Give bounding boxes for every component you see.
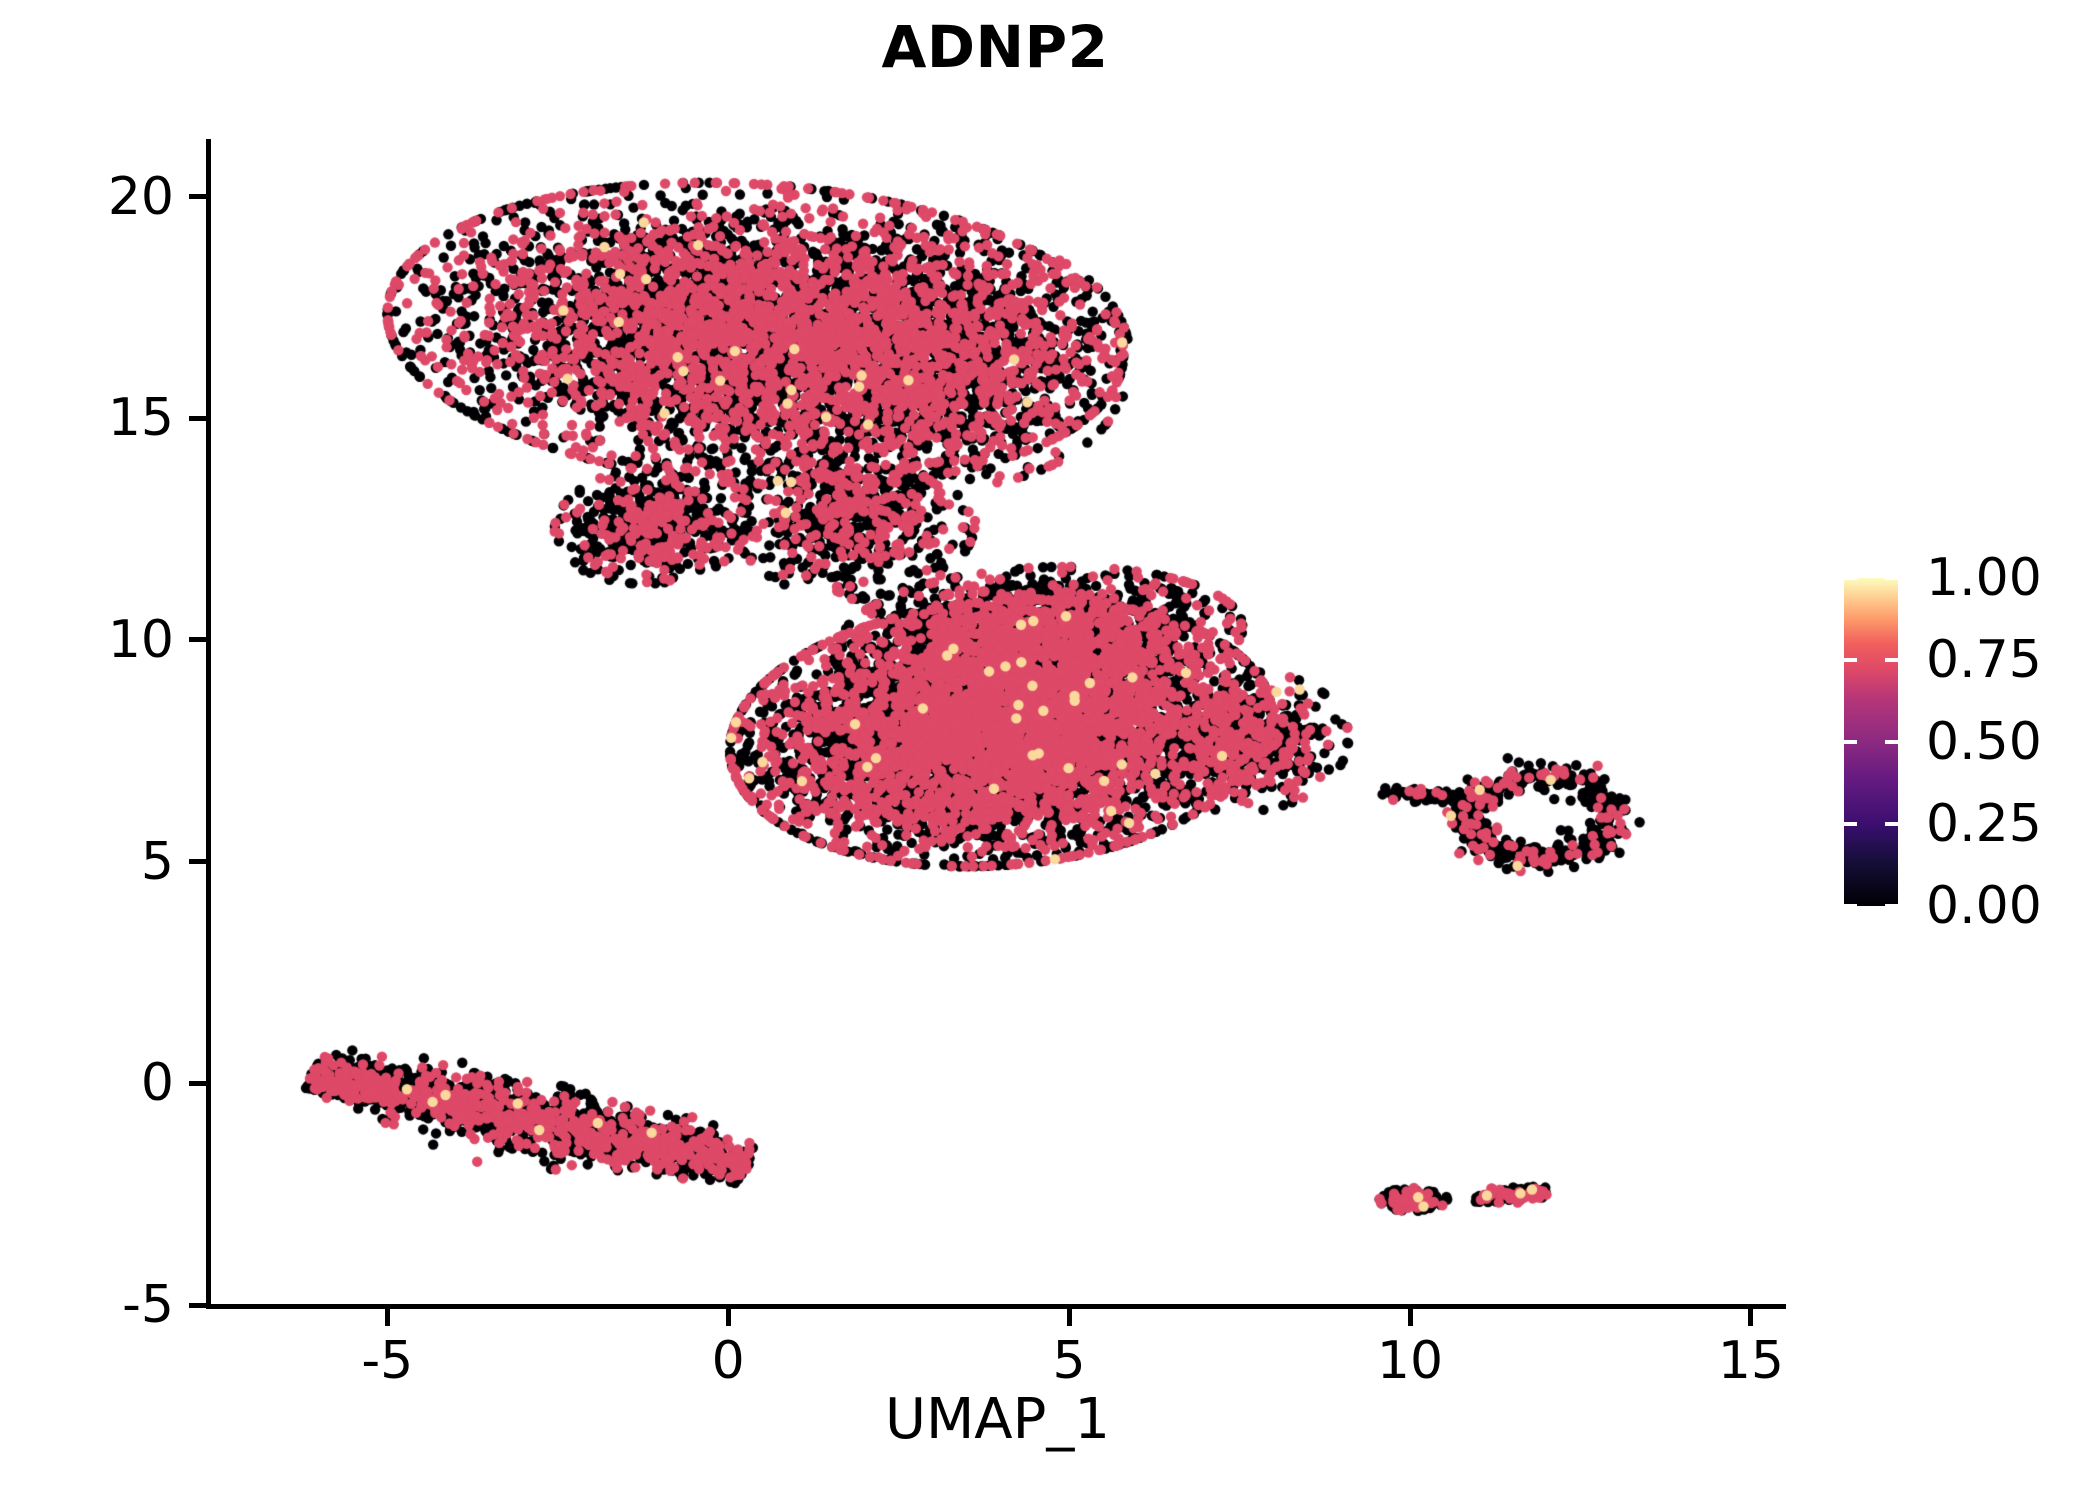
x-tick-label: 5 <box>1053 1335 1086 1387</box>
axis-spine-left <box>206 139 211 1306</box>
axis-spine-bottom <box>206 1304 1786 1309</box>
scatter-plot-axes: -505101520 -5051015 <box>210 139 1785 1305</box>
y-tick-mark <box>189 416 206 421</box>
scatter-points-canvas <box>210 139 1785 1305</box>
x-tick-label: -5 <box>361 1335 413 1387</box>
figure-root: ADNP2 -505101520 -5051015 UMAP_1 UMAP_2 … <box>0 0 2100 1500</box>
colorbar-tick-mark <box>1844 658 1857 662</box>
y-tick-mark <box>189 637 206 642</box>
y-tick-label: -5 <box>122 1279 174 1331</box>
colorbar-tick-mark <box>1844 822 1857 826</box>
colorbar-tick-label: 0.00 <box>1926 880 2042 932</box>
y-tick-label: 10 <box>108 614 174 666</box>
colorbar-tick-label: 0.75 <box>1926 634 2042 686</box>
x-tick-mark <box>726 1309 731 1326</box>
colorbar-tick-mark <box>1844 740 1857 744</box>
y-tick-label: 0 <box>141 1057 174 1109</box>
x-tick-label: 0 <box>712 1335 745 1387</box>
colorbar-tick-mark <box>1885 822 1898 826</box>
y-tick-label: 15 <box>108 392 174 444</box>
x-tick-mark <box>1748 1309 1753 1326</box>
x-tick-mark <box>1408 1309 1413 1326</box>
y-tick-mark <box>189 1303 206 1308</box>
y-tick-mark <box>189 1081 206 1086</box>
colorbar-tick-mark <box>1885 740 1898 744</box>
x-tick-mark <box>385 1309 390 1326</box>
x-tick-mark <box>1067 1309 1072 1326</box>
y-tick-label: 20 <box>108 171 174 223</box>
colorbar-tick-label: 0.25 <box>1926 798 2042 850</box>
colorbar-tick-label: 0.50 <box>1926 716 2042 768</box>
y-tick-mark <box>189 194 206 199</box>
x-tick-label: 15 <box>1718 1335 1784 1387</box>
colorbar-tick-mark <box>1844 576 1857 580</box>
y-tick-mark <box>189 859 206 864</box>
x-tick-label: 10 <box>1377 1335 1443 1387</box>
x-axis-label: UMAP_1 <box>210 1392 1785 1448</box>
colorbar-tick-mark <box>1844 904 1857 908</box>
colorbar: 0.000.250.500.751.00 <box>1844 578 1898 906</box>
colorbar-tick-mark <box>1885 658 1898 662</box>
colorbar-tick-label: 1.00 <box>1926 552 2042 604</box>
colorbar-tick-mark <box>1885 576 1898 580</box>
page-title: ADNP2 <box>0 18 1990 76</box>
colorbar-tick-mark <box>1885 904 1898 908</box>
y-tick-label: 5 <box>141 836 174 888</box>
